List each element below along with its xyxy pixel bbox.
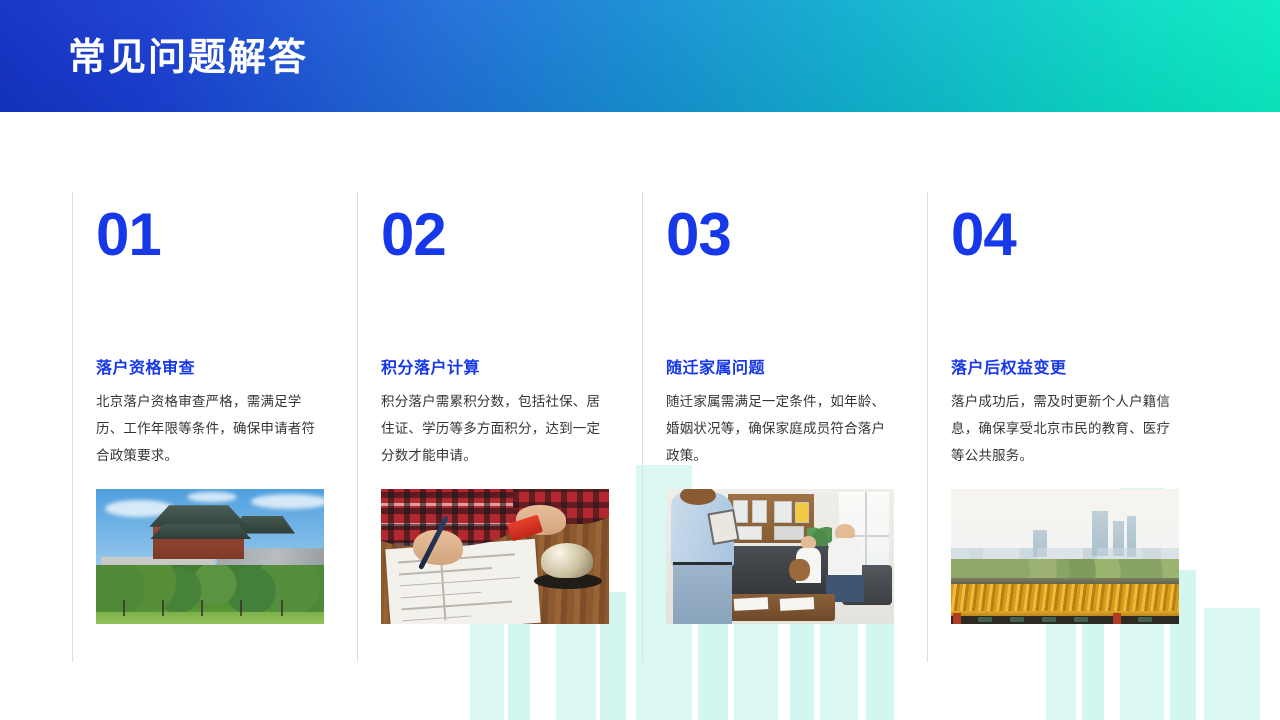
card-body-text: 落户成功后，需及时更新个人户籍信息，确保享受北京市民的教育、医疗等公共服务。 (951, 388, 1182, 469)
card-number: 01 (96, 204, 357, 266)
card-number: 03 (666, 204, 927, 266)
faq-card-04[interactable]: 04 落户后权益变更 落户成功后，需及时更新个人户籍信息，确保享受北京市民的教育… (927, 192, 1212, 662)
card-title: 积分落户计算 (381, 354, 642, 378)
faq-card-02[interactable]: 02 积分落户计算 积分落户需累积分数，包括社保、居住证、学历等多方面积分，达到… (357, 192, 642, 662)
card-number: 02 (381, 204, 642, 266)
slide-header-bar: 常见问题解答 (0, 0, 1280, 112)
beijing-gate-tower-photo (96, 489, 324, 624)
slide-content: 01 落户资格审查 北京落户资格审查严格，需满足学历、工作年限等条件，确保申请者… (0, 112, 1280, 720)
card-body-text: 北京落户资格审查严格，需满足学历、工作年限等条件，确保申请者符合政策要求。 (96, 388, 327, 469)
faq-card-row: 01 落户资格审查 北京落户资格审查严格，需满足学历、工作年限等条件，确保申请者… (72, 192, 1212, 662)
home-visit-interview-photo (666, 489, 894, 624)
card-title: 随迁家属问题 (666, 354, 927, 378)
forbidden-city-skyline-photo (951, 489, 1179, 624)
page-title: 常见问题解答 (68, 36, 308, 80)
faq-card-03[interactable]: 03 随迁家属问题 随迁家属需满足一定条件，如年龄、婚姻状况等，确保家庭成员符合… (642, 192, 927, 662)
card-body-text: 随迁家属需满足一定条件，如年龄、婚姻状况等，确保家庭成员符合落户政策。 (666, 388, 897, 469)
card-title: 落户资格审查 (96, 354, 357, 378)
card-body-text: 积分落户需累积分数，包括社保、居住证、学历等多方面积分，达到一定分数才能申请。 (381, 388, 612, 469)
card-number: 04 (951, 204, 1212, 266)
card-title: 落户后权益变更 (951, 354, 1212, 378)
form-signing-photo (381, 489, 609, 624)
faq-card-01[interactable]: 01 落户资格审查 北京落户资格审查严格，需满足学历、工作年限等条件，确保申请者… (72, 192, 357, 662)
